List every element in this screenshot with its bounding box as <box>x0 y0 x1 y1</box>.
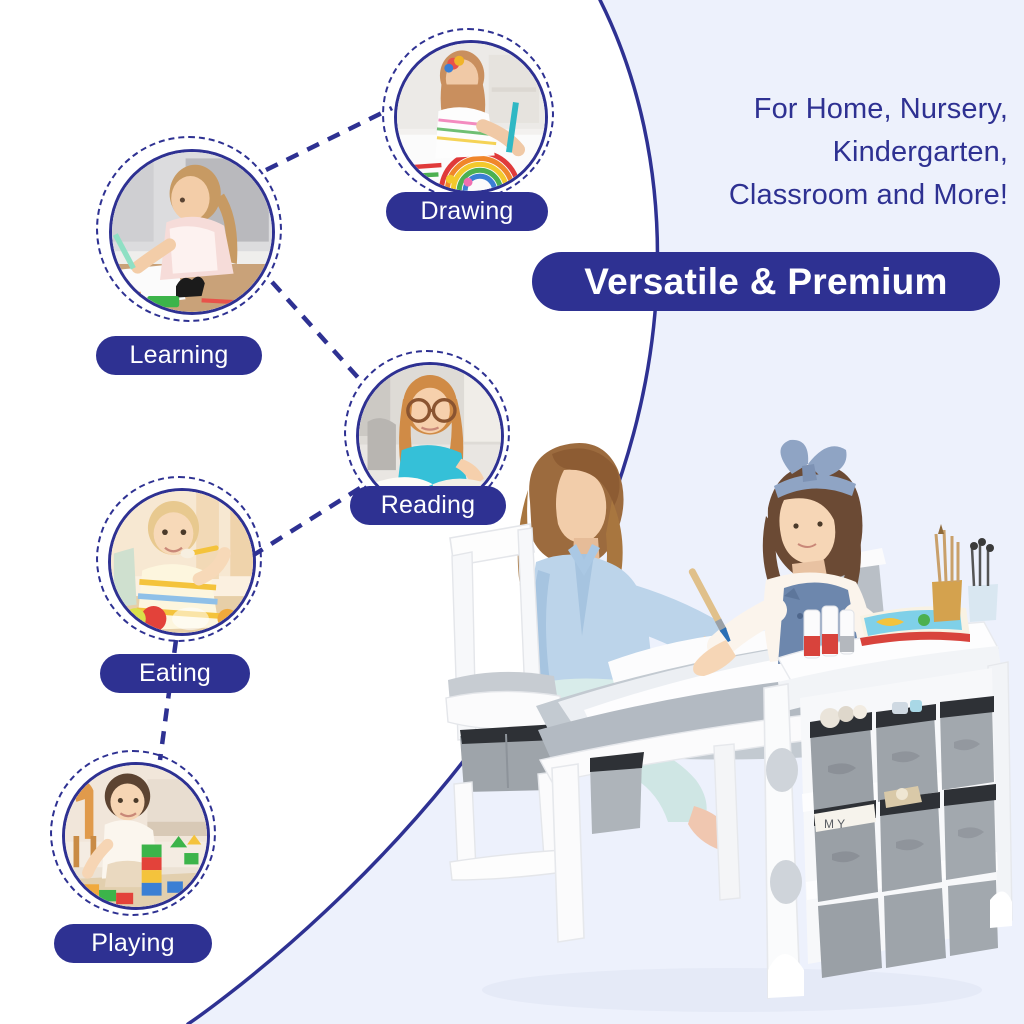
headline-text: For Home, Nursery, Kindergarten, Classro… <box>608 88 1008 217</box>
paint-bottles <box>804 606 854 658</box>
brush-cup <box>932 524 962 622</box>
feature-circle-drawing <box>382 28 554 200</box>
photo-learning <box>112 152 272 312</box>
feature-label-learning-text: Learning <box>130 341 229 370</box>
promo-graphic: For Home, Nursery, Kindergarten, Classro… <box>0 0 1024 1024</box>
feature-label-eating: Eating <box>100 654 250 693</box>
photo-eating <box>111 491 253 633</box>
feature-circle-eating <box>96 476 262 642</box>
bin-label-text: M Y <box>824 817 845 831</box>
photo-ring-drawing <box>394 40 548 194</box>
headline-line-1: For Home, Nursery, <box>608 88 1008 131</box>
water-cup <box>968 538 998 622</box>
photo-playing <box>65 765 207 907</box>
versatile-premium-badge: Versatile & Premium <box>532 252 1000 311</box>
feature-label-eating-text: Eating <box>139 659 211 688</box>
photo-ring-playing <box>62 762 210 910</box>
product-photo: M Y <box>432 430 1024 1024</box>
feature-label-learning: Learning <box>96 336 262 375</box>
headline-line-2: Kindergarten, <box>608 131 1008 174</box>
photo-ring-eating <box>108 488 256 636</box>
feature-circle-playing <box>50 750 216 916</box>
feature-label-playing: Playing <box>54 924 212 963</box>
photo-drawing <box>397 43 545 191</box>
feature-circle-learning <box>96 136 282 322</box>
feature-label-playing-text: Playing <box>91 929 174 958</box>
feature-label-drawing: Drawing <box>386 192 548 231</box>
feature-label-drawing-text: Drawing <box>420 197 513 226</box>
headline-line-3: Classroom and More! <box>608 174 1008 217</box>
photo-ring-learning <box>109 149 275 315</box>
